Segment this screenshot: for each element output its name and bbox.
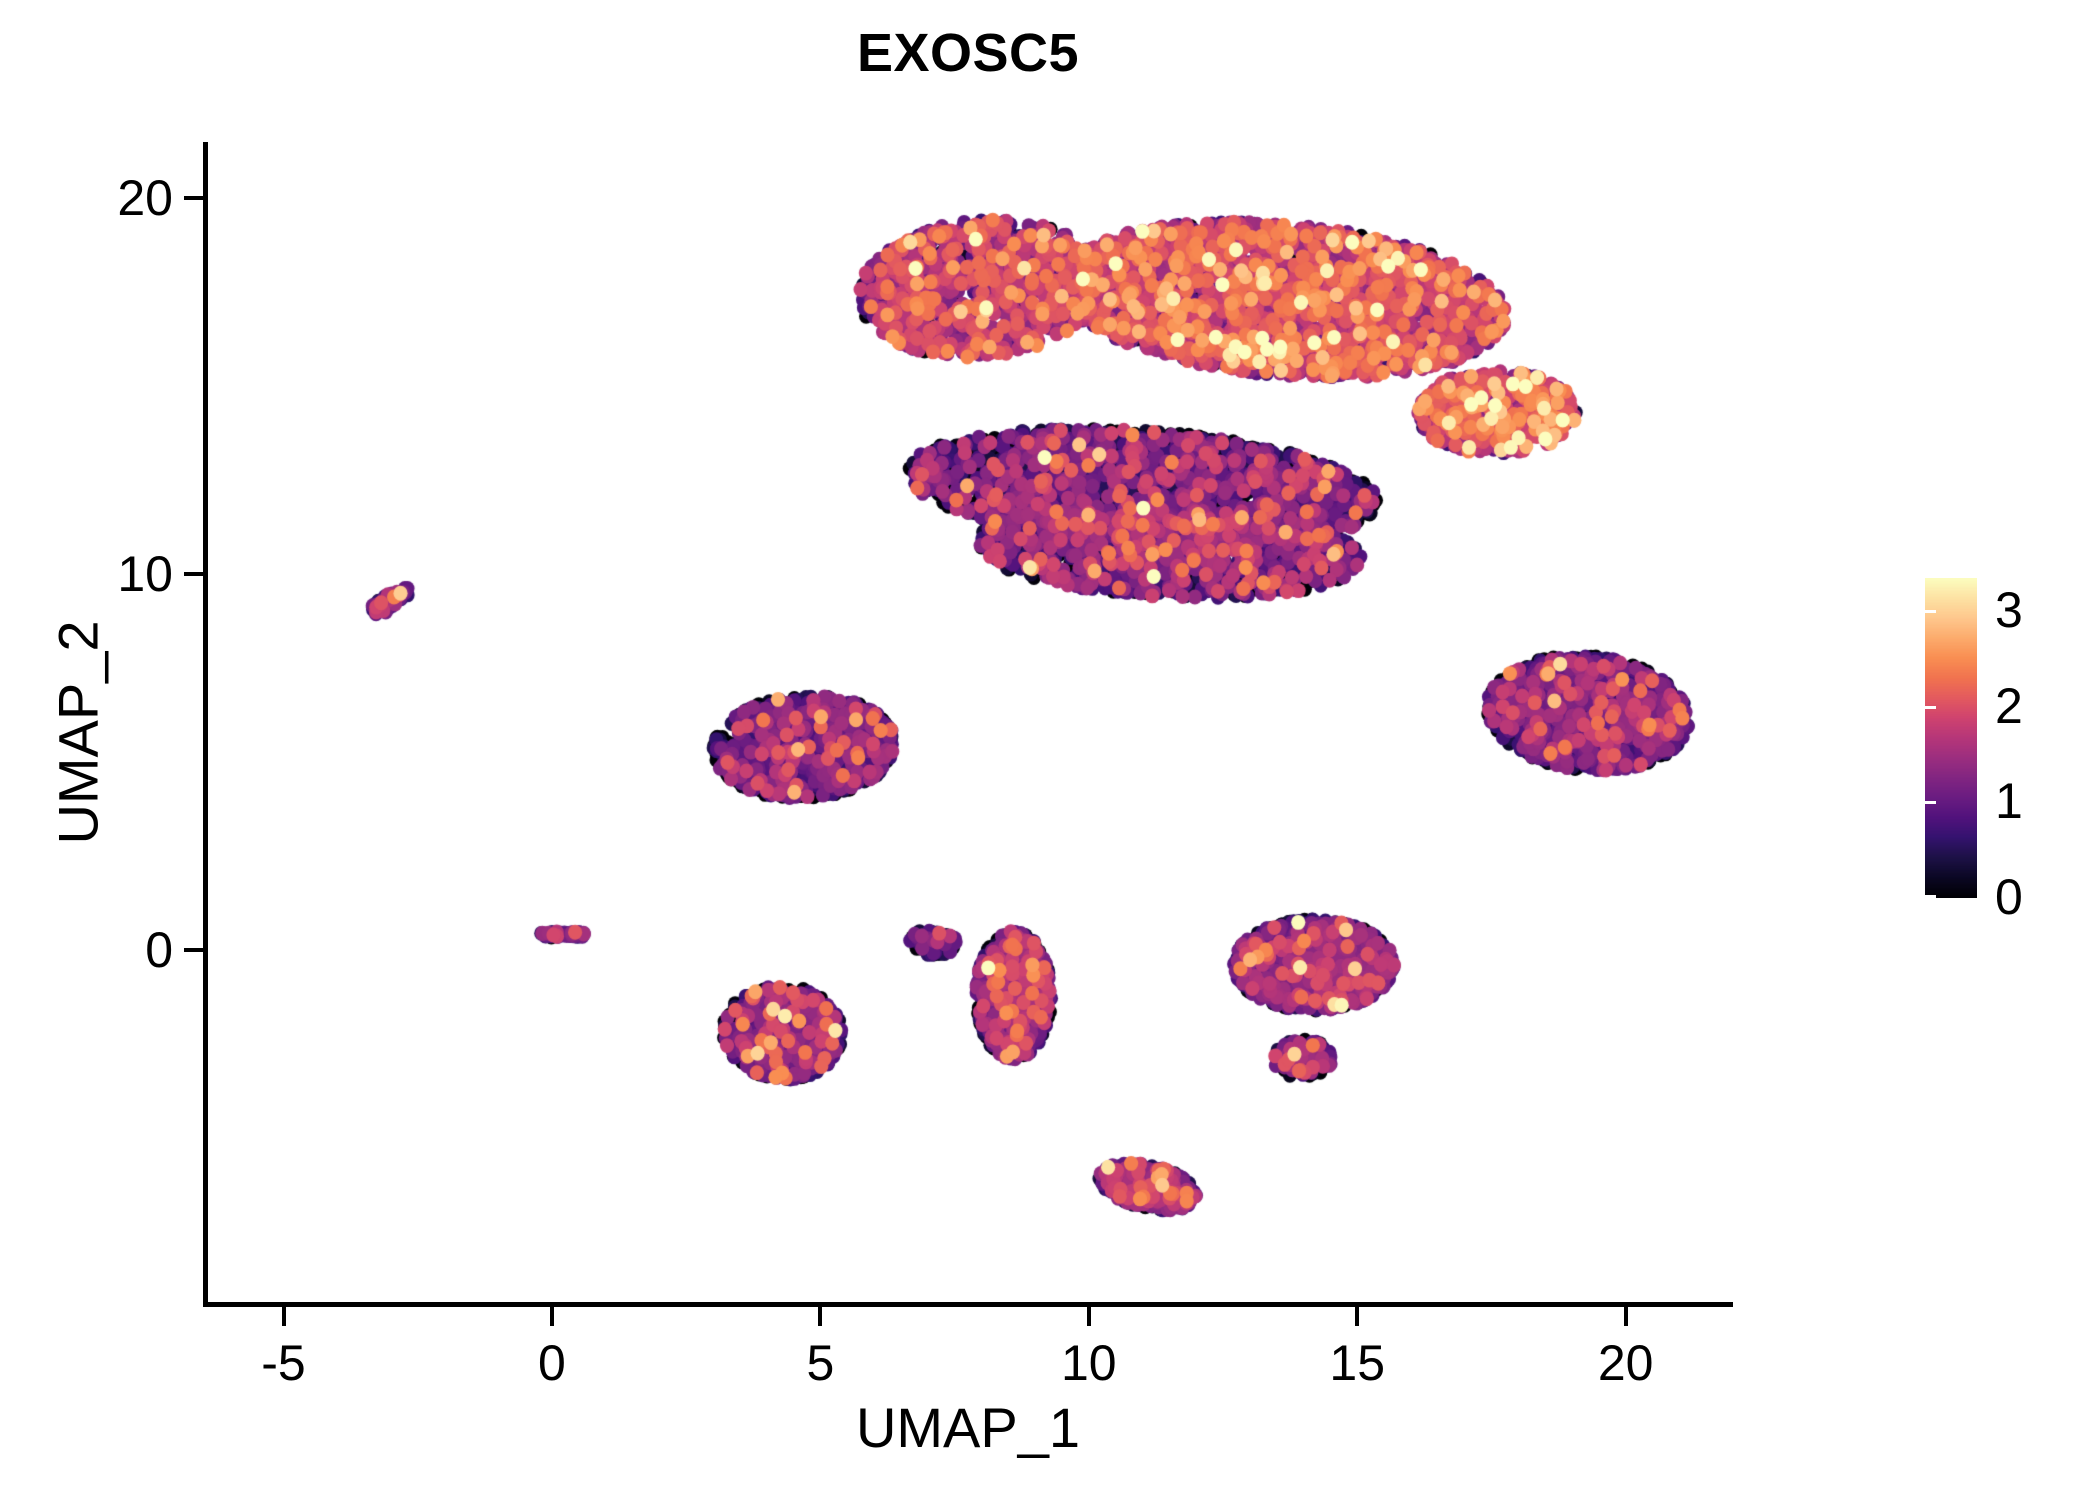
feature-plot-figure: EXOSC5 -505101520 01020 UMAP_1 UMAP_2 01… <box>0 0 2100 1500</box>
x-tick-mark <box>282 1307 286 1326</box>
colorbar-tick-mark <box>1914 706 1925 709</box>
colorbar-tick-label: 0 <box>1995 872 2023 922</box>
colorbar-tick-mark <box>1914 895 1925 898</box>
plot-panel: -505101520 01020 <box>203 142 1733 1307</box>
y-tick-mark <box>184 948 203 952</box>
x-tick-label: 20 <box>1546 1334 1706 1392</box>
x-tick-mark <box>1087 1307 1091 1326</box>
y-tick-label: 20 <box>3 173 173 223</box>
colorbar-tick-label: 2 <box>1995 681 2023 731</box>
colorbar-tick-mark <box>1925 610 1936 613</box>
x-tick-label: 0 <box>472 1334 632 1392</box>
y-axis-line <box>203 142 208 1307</box>
y-axis-title: UMAP_2 <box>46 333 111 1133</box>
scatter-plot-canvas <box>203 142 1733 1307</box>
colorbar-tick-mark <box>1914 610 1925 613</box>
colorbar-tick-mark <box>1925 801 1936 804</box>
colorbar-tick-label: 1 <box>1995 776 2023 826</box>
x-axis-line <box>203 1302 1733 1307</box>
colorbar-tick-mark <box>1925 895 1936 898</box>
x-tick-label: 5 <box>740 1334 900 1392</box>
x-tick-mark <box>1355 1307 1359 1326</box>
x-tick-mark <box>550 1307 554 1326</box>
colorbar-tick-label: 3 <box>1995 585 2023 635</box>
page-title: EXOSC5 <box>203 22 1733 84</box>
colorbar-gradient <box>1925 578 1977 898</box>
x-axis-title: UMAP_1 <box>203 1395 1733 1460</box>
x-tick-label: 10 <box>1009 1334 1169 1392</box>
y-tick-mark <box>184 196 203 200</box>
x-tick-label: 15 <box>1277 1334 1437 1392</box>
x-tick-label: -5 <box>204 1334 364 1392</box>
colorbar-tick-mark <box>1914 801 1925 804</box>
x-tick-mark <box>818 1307 822 1326</box>
x-tick-mark <box>1624 1307 1628 1326</box>
y-tick-mark <box>184 572 203 576</box>
colorbar-tick-mark <box>1925 706 1936 709</box>
